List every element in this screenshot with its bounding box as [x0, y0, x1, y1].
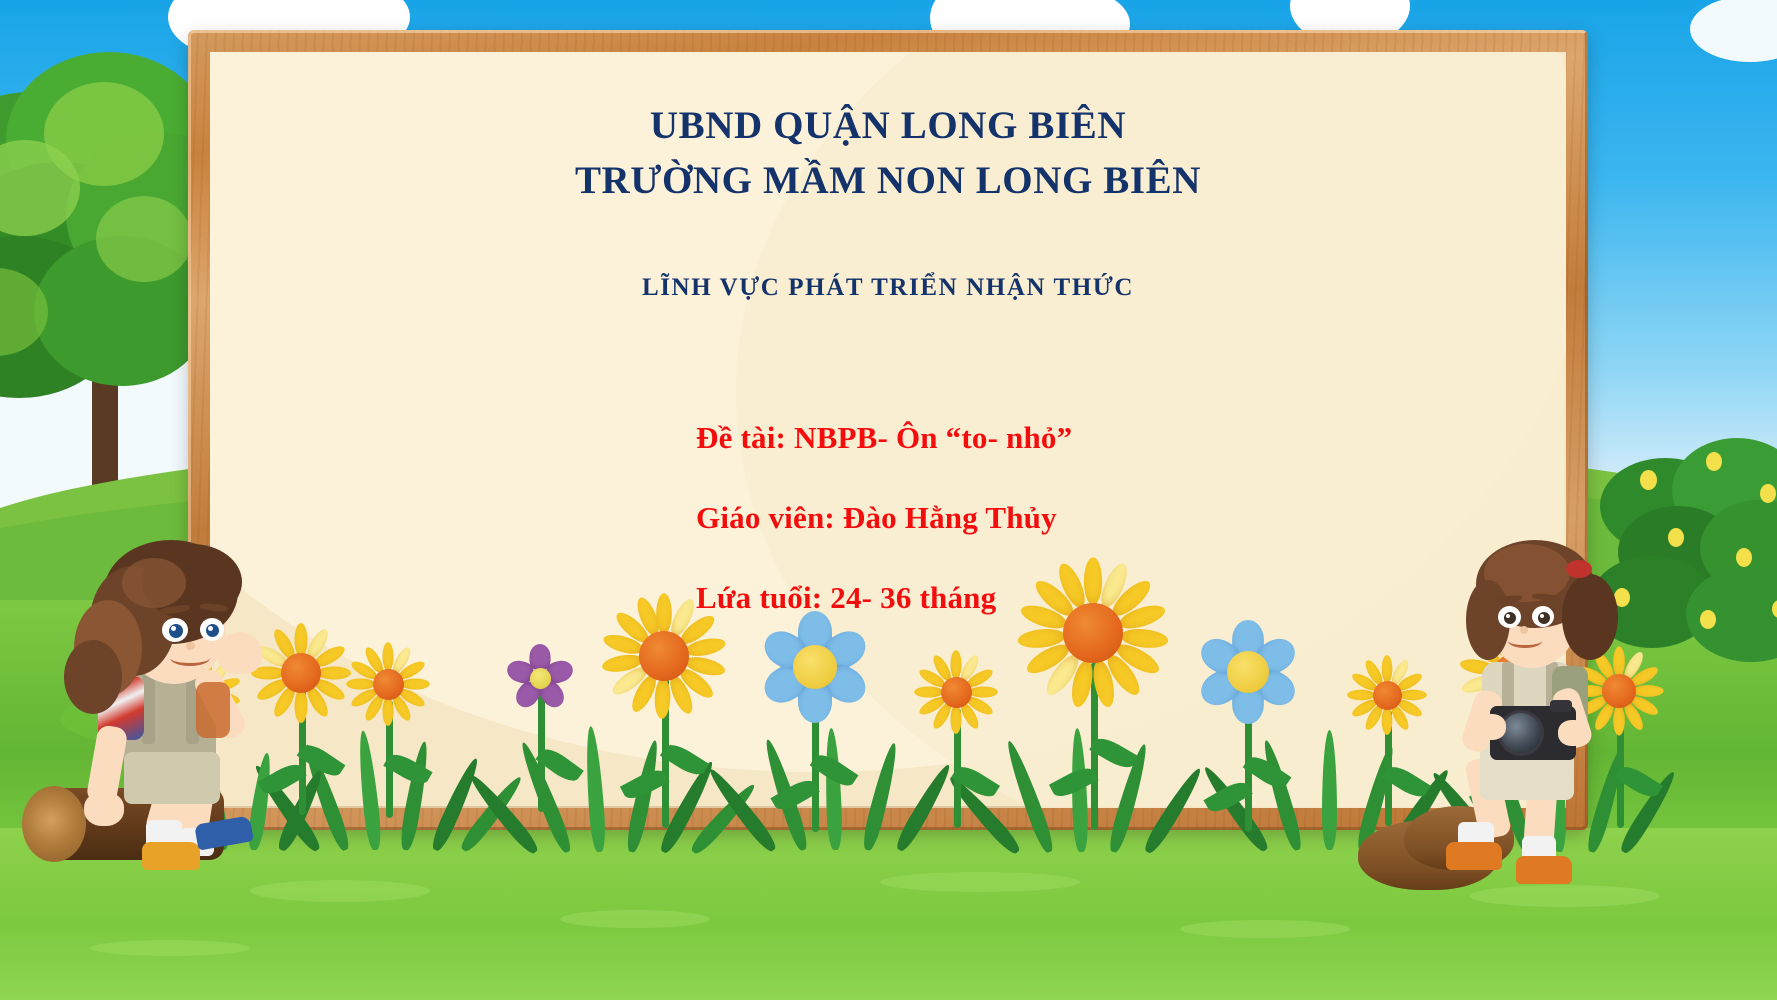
- shoe: [1516, 856, 1572, 884]
- eye-glint: [208, 626, 213, 631]
- sunflower: [610, 602, 718, 710]
- hand: [1476, 714, 1506, 740]
- slide-canvas: UBND QUẬN LONG BIÊN TRƯỜNG MẦM NON LONG …: [0, 0, 1777, 1000]
- cosmos-flower-blue: [762, 614, 868, 720]
- cosmos-flower-blue: [1198, 622, 1298, 722]
- hair: [64, 640, 122, 714]
- cosmos-flower-violet: [508, 646, 572, 710]
- eye-glint: [171, 626, 176, 631]
- log-end: [22, 786, 86, 862]
- camera-lens: [1498, 710, 1544, 756]
- girl-with-camera: [1500, 530, 1777, 930]
- shoe: [1446, 842, 1502, 870]
- mouth: [1508, 634, 1542, 648]
- organization-title: UBND QUẬN LONG BIÊN TRƯỜNG MẦM NON LONG …: [188, 98, 1588, 209]
- shoe: [142, 842, 200, 870]
- sunflower: [1030, 570, 1156, 696]
- eye-glint: [1540, 614, 1544, 618]
- hair: [122, 558, 186, 608]
- sunflower: [352, 648, 424, 720]
- organization-line-1: UBND QUẬN LONG BIÊN: [650, 104, 1126, 147]
- nose: [186, 642, 195, 650]
- sunflower: [1352, 660, 1422, 730]
- mouth: [170, 650, 210, 666]
- sunflower: [920, 656, 992, 728]
- girl-sitting-on-log: [20, 520, 320, 920]
- nose: [1520, 626, 1528, 634]
- detail-teacher: Giáo viên: Đào Hằng Thủy: [696, 500, 1596, 536]
- detail-topic: Đề tài: NBPB- Ôn “to- nhỏ”: [696, 420, 1596, 456]
- camera-flash: [1550, 700, 1572, 712]
- hand: [1558, 720, 1588, 746]
- subject-area-heading: LĨNH VỰC PHÁT TRIỂN NHẬN THỨC: [188, 274, 1588, 302]
- hair-pigtail: [1562, 574, 1618, 660]
- hand: [84, 792, 124, 826]
- hair-tie: [1566, 560, 1592, 578]
- backpack: [196, 682, 230, 738]
- organization-line-2: TRƯỜNG MẦM NON LONG BIÊN: [188, 153, 1588, 208]
- eye-glint: [1506, 614, 1510, 618]
- shorts: [124, 752, 220, 804]
